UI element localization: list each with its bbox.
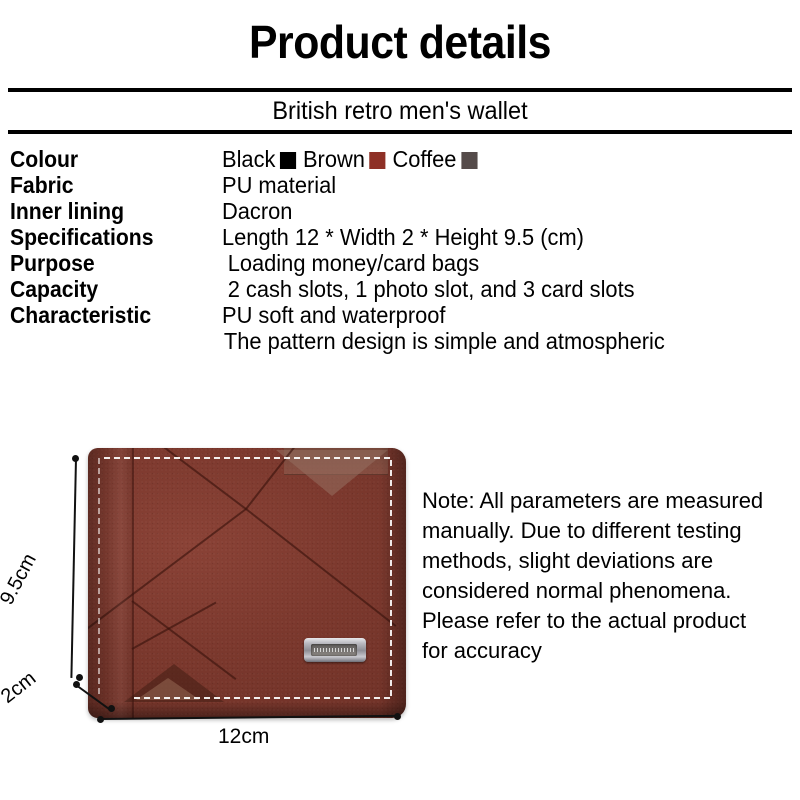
colour-option-coffee-label: Coffee <box>392 146 456 172</box>
spec-label-characteristic: Characteristic <box>10 302 205 328</box>
logo-plate-engraving <box>311 644 357 656</box>
dimension-endpoint-height-top <box>72 455 79 462</box>
colour-option-black-label: Black <box>222 146 275 172</box>
header-divider-top <box>8 88 792 92</box>
dimension-label-depth: 2cm <box>0 667 41 708</box>
dimension-endpoint-width-left <box>97 716 104 723</box>
spec-row-inner-lining: Inner liningDacron <box>10 198 800 224</box>
measurement-note: Note: All parameters are measured manual… <box>422 486 798 666</box>
dimension-endpoint-width-right <box>394 713 401 720</box>
wallet-metal-logo-plate <box>304 638 366 662</box>
spec-value-characteristic-continued: The pattern design is simple and atmosph… <box>222 328 665 354</box>
spec-row-characteristic: CharacteristicPU soft and waterproof <box>10 302 800 328</box>
wallet-bottom-triangle-highlight <box>136 678 200 700</box>
spec-value-specifications: Length 12 * Width 2 * Height 9.5 (cm) <box>222 224 584 250</box>
spec-value-capacity: 2 cash slots, 1 photo slot, and 3 card s… <box>222 276 635 302</box>
spec-value-inner-lining: Dacron <box>222 198 292 224</box>
spec-value-fabric: PU material <box>222 172 336 198</box>
wallet-spine-fold <box>88 448 132 718</box>
note-line-1: Note: All parameters are measured <box>422 486 798 516</box>
note-line-4: considered normal phenomena. <box>422 576 798 606</box>
dimension-endpoint-height-bottom <box>76 674 83 681</box>
spec-row-specifications: SpecificationsLength 12 * Width 2 * Heig… <box>10 224 800 250</box>
wallet-top-triangle-inset <box>276 450 388 496</box>
wallet-product-image <box>88 448 406 718</box>
spec-label-colour: Colour <box>10 146 205 172</box>
note-line-6: for accuracy <box>422 636 798 666</box>
colour-swatch-brown <box>370 152 386 169</box>
spec-value-purpose: Loading money/card bags <box>222 250 479 276</box>
note-line-2: manually. Due to different testing <box>422 516 798 546</box>
spec-label-specifications: Specifications <box>10 224 205 250</box>
note-line-5: Please refer to the actual product <box>422 606 798 636</box>
colour-swatch-coffee <box>461 152 477 169</box>
spec-row-capacity: Capacity2 cash slots, 1 photo slot, and … <box>10 276 800 302</box>
colour-swatch-black <box>280 152 296 169</box>
colour-option-brown-label: Brown <box>303 146 365 172</box>
dimension-endpoint-depth-start <box>73 681 80 688</box>
wallet-right-edge-shading <box>380 448 406 718</box>
spec-row-fabric: FabricPU material <box>10 172 800 198</box>
product-photo-area: 9.5cm 2cm 12cm Note: All parameters are … <box>0 420 800 800</box>
spec-value-characteristic: PU soft and waterproof <box>222 302 445 328</box>
spec-row-colour: ColourBlackBrownCoffee <box>10 146 800 172</box>
wallet-spine-seam <box>132 448 134 718</box>
spec-label-fabric: Fabric <box>10 172 205 198</box>
dimension-label-height: 9.5cm <box>0 550 42 609</box>
page-title: Product details <box>28 18 772 66</box>
dimension-endpoint-depth-end <box>108 705 115 712</box>
dimension-line-height <box>70 458 77 678</box>
spec-label-purpose: Purpose <box>10 250 205 276</box>
spec-label-capacity: Capacity <box>10 276 205 302</box>
note-line-3: methods, slight deviations are <box>422 546 798 576</box>
product-subtitle: British retro men's wallet <box>24 97 776 126</box>
dimension-label-width: 12cm <box>218 725 269 749</box>
spec-value-colour: BlackBrownCoffee <box>222 146 484 172</box>
spec-label-inner-lining: Inner lining <box>10 198 205 224</box>
product-details-page: Product details British retro men's wall… <box>0 0 800 800</box>
spec-row-characteristic-continued: The pattern design is simple and atmosph… <box>10 328 800 354</box>
specifications-table: ColourBlackBrownCoffee FabricPU material… <box>10 146 800 354</box>
spec-row-purpose: PurposeLoading money/card bags <box>10 250 800 276</box>
header-divider-bottom <box>8 130 792 134</box>
